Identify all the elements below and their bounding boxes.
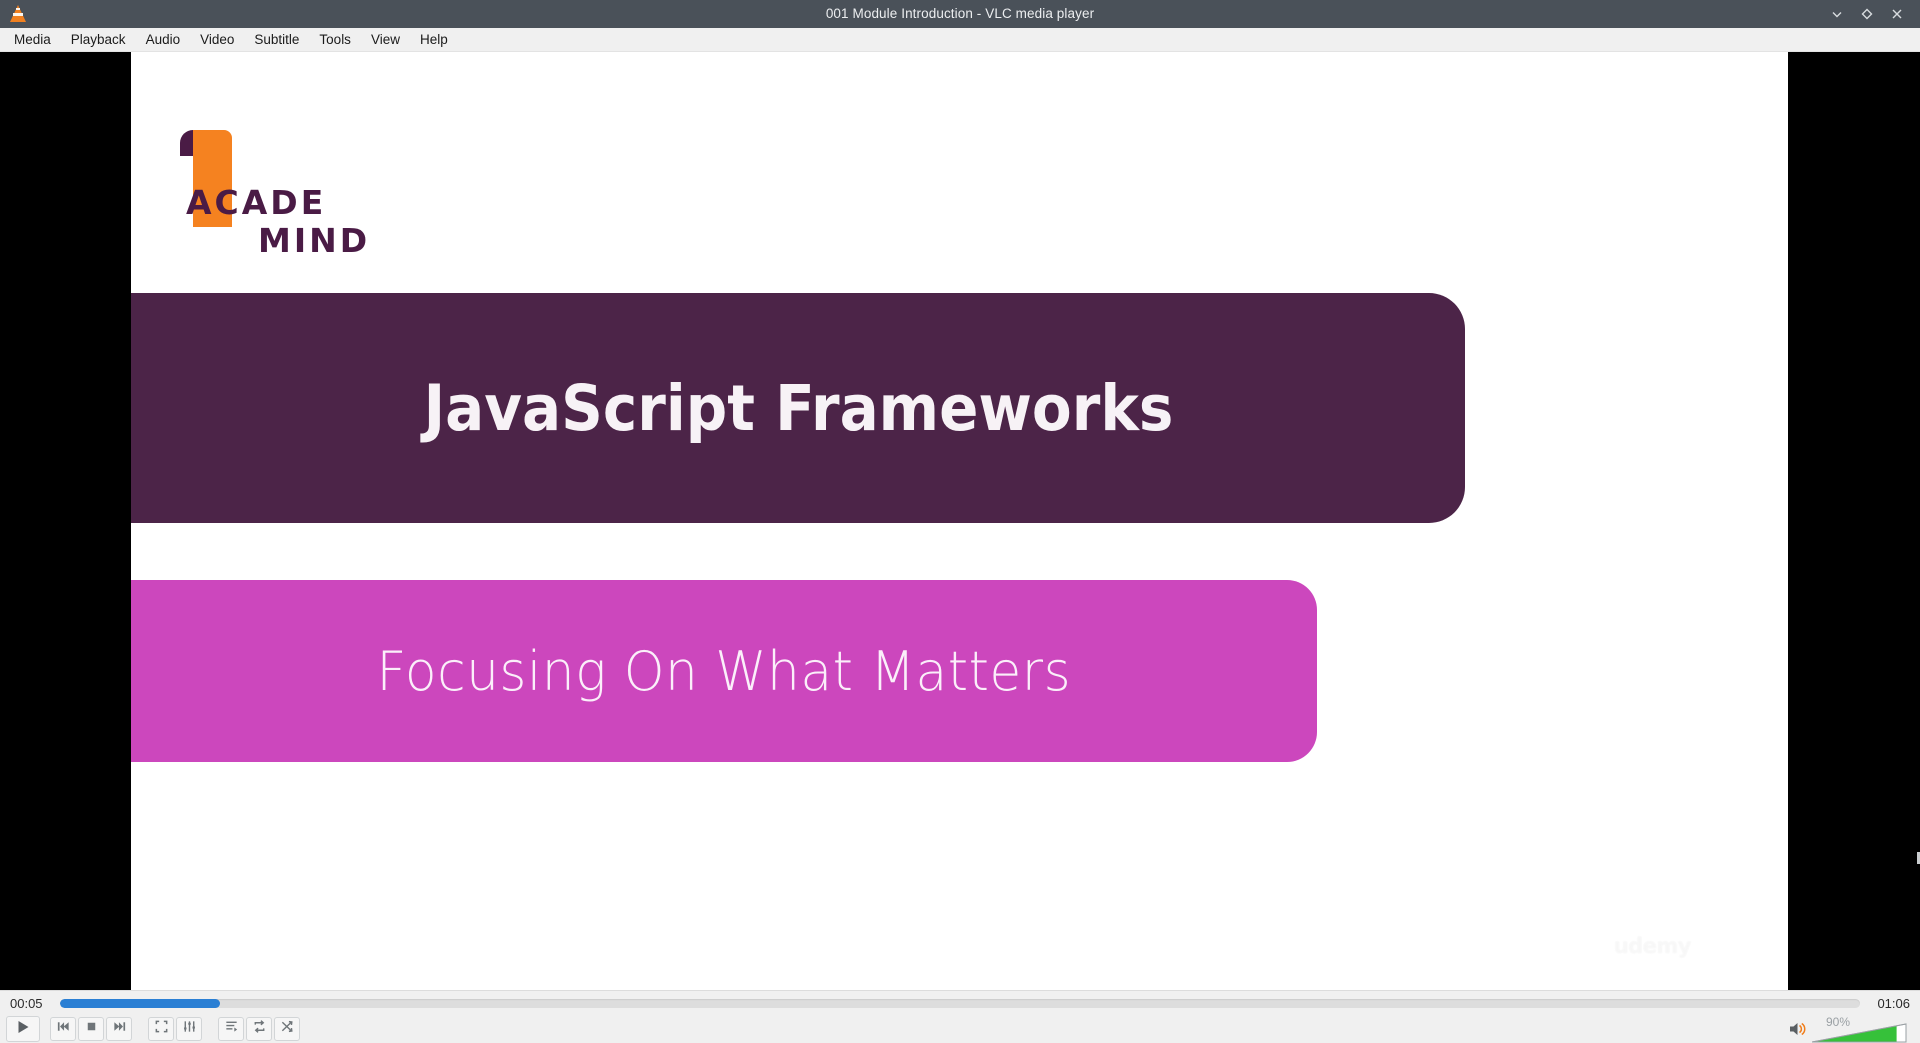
volume-control[interactable]: 90% — [1788, 1015, 1914, 1043]
random-button[interactable] — [274, 1017, 300, 1041]
video-slide: ACADE MIND JavaScript Frameworks Focusin… — [131, 52, 1788, 990]
previous-button[interactable] — [50, 1017, 76, 1041]
stop-icon — [84, 1019, 99, 1039]
skip-backward-icon — [56, 1019, 71, 1039]
prev-stop-next-group — [50, 1017, 132, 1041]
diamond-icon[interactable] — [1852, 1, 1882, 27]
shuffle-icon — [280, 1019, 295, 1039]
playlist-button[interactable] — [218, 1017, 244, 1041]
window-title: 001 Module Introduction - VLC media play… — [0, 0, 1920, 28]
udemy-watermark: udemy — [1614, 934, 1691, 958]
menu-item-subtitle[interactable]: Subtitle — [244, 28, 309, 52]
control-bar: 00:05 01:06 — [0, 990, 1920, 1043]
play-button[interactable] — [6, 1016, 40, 1042]
skip-forward-icon — [112, 1019, 127, 1039]
loop-button[interactable] — [246, 1017, 272, 1041]
playlist-tools-group — [218, 1017, 300, 1041]
slide-subtitle: Focusing On What Matters — [377, 640, 1072, 703]
total-time-label: 01:06 — [1868, 996, 1910, 1011]
speaker-icon[interactable] — [1788, 1015, 1808, 1043]
stop-button[interactable] — [78, 1017, 104, 1041]
menu-item-tools[interactable]: Tools — [309, 28, 361, 52]
close-icon[interactable] — [1882, 1, 1912, 27]
seek-slider[interactable] — [60, 999, 1860, 1008]
slide-title: JavaScript Frameworks — [423, 372, 1173, 445]
vlc-cone-icon — [5, 4, 31, 24]
menu-item-audio[interactable]: Audio — [136, 28, 191, 52]
fullscreen-icon — [154, 1019, 169, 1039]
seek-progress-fill — [60, 999, 220, 1008]
menu-item-video[interactable]: Video — [190, 28, 244, 52]
academind-logo-line1: ACADE — [186, 183, 326, 222]
playlist-icon — [224, 1019, 239, 1039]
menu-item-view[interactable]: View — [361, 28, 410, 52]
transport-buttons-row: 90% — [0, 1015, 1920, 1043]
extended-settings-button[interactable] — [176, 1017, 202, 1041]
next-button[interactable] — [106, 1017, 132, 1041]
video-display-area[interactable]: ACADE MIND JavaScript Frameworks Focusin… — [0, 52, 1920, 990]
academind-logo-line2: MIND — [258, 222, 370, 260]
menu-bar: Media Playback Audio Video Subtitle Tool… — [0, 28, 1920, 52]
title-bar: 001 Module Introduction - VLC media play… — [0, 0, 1920, 28]
menu-item-playback[interactable]: Playback — [61, 28, 136, 52]
seek-row: 00:05 01:06 — [0, 991, 1920, 1015]
equalizer-icon — [182, 1019, 197, 1039]
fullscreen-button[interactable] — [148, 1017, 174, 1041]
elapsed-time-label: 00:05 — [10, 996, 52, 1011]
volume-slider[interactable]: 90% — [1812, 1017, 1908, 1043]
view-tools-group — [148, 1017, 202, 1041]
academind-logo: ACADE MIND — [180, 130, 370, 255]
chevron-down-icon[interactable] — [1822, 1, 1852, 27]
menu-item-help[interactable]: Help — [410, 28, 458, 52]
menu-item-media[interactable]: Media — [4, 28, 61, 52]
play-icon — [15, 1019, 31, 1040]
slide-banner-secondary: Focusing On What Matters — [131, 580, 1317, 762]
loop-icon — [252, 1019, 267, 1039]
slide-banner-primary: JavaScript Frameworks — [131, 293, 1465, 523]
window-controls — [1822, 1, 1920, 27]
academind-logo-text: ACADE MIND — [186, 184, 370, 260]
vlc-media-player-window: 001 Module Introduction - VLC media play… — [0, 0, 1920, 1043]
volume-slider-track[interactable] — [1812, 1023, 1908, 1043]
